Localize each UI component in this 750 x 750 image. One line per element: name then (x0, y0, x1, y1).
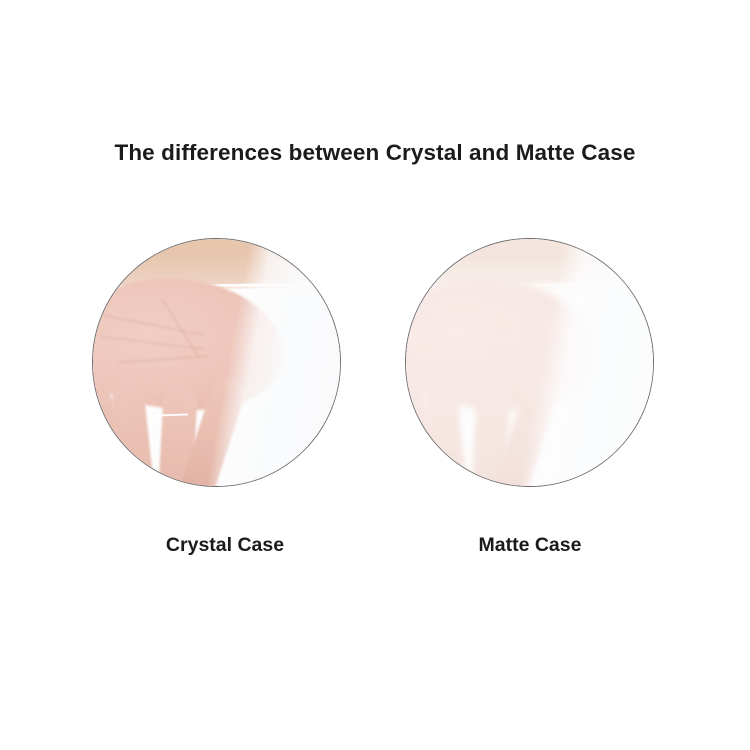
crystal-case-sample (92, 238, 341, 487)
page-title: The differences between Crystal and Matt… (0, 138, 750, 168)
case-translucency-veil (405, 238, 654, 487)
matte-case-caption: Matte Case (380, 532, 680, 558)
comparison-row (0, 238, 750, 488)
case-translucency-veil (92, 238, 341, 487)
crystal-case-caption: Crystal Case (75, 532, 375, 558)
comparison-infographic: The differences between Crystal and Matt… (0, 0, 750, 750)
matte-case-sample (405, 238, 654, 487)
crystal-case-circle-photo (92, 238, 341, 487)
matte-case-circle-photo (405, 238, 654, 487)
crystal-case-scene (92, 238, 341, 487)
matte-case-scene (405, 238, 654, 487)
